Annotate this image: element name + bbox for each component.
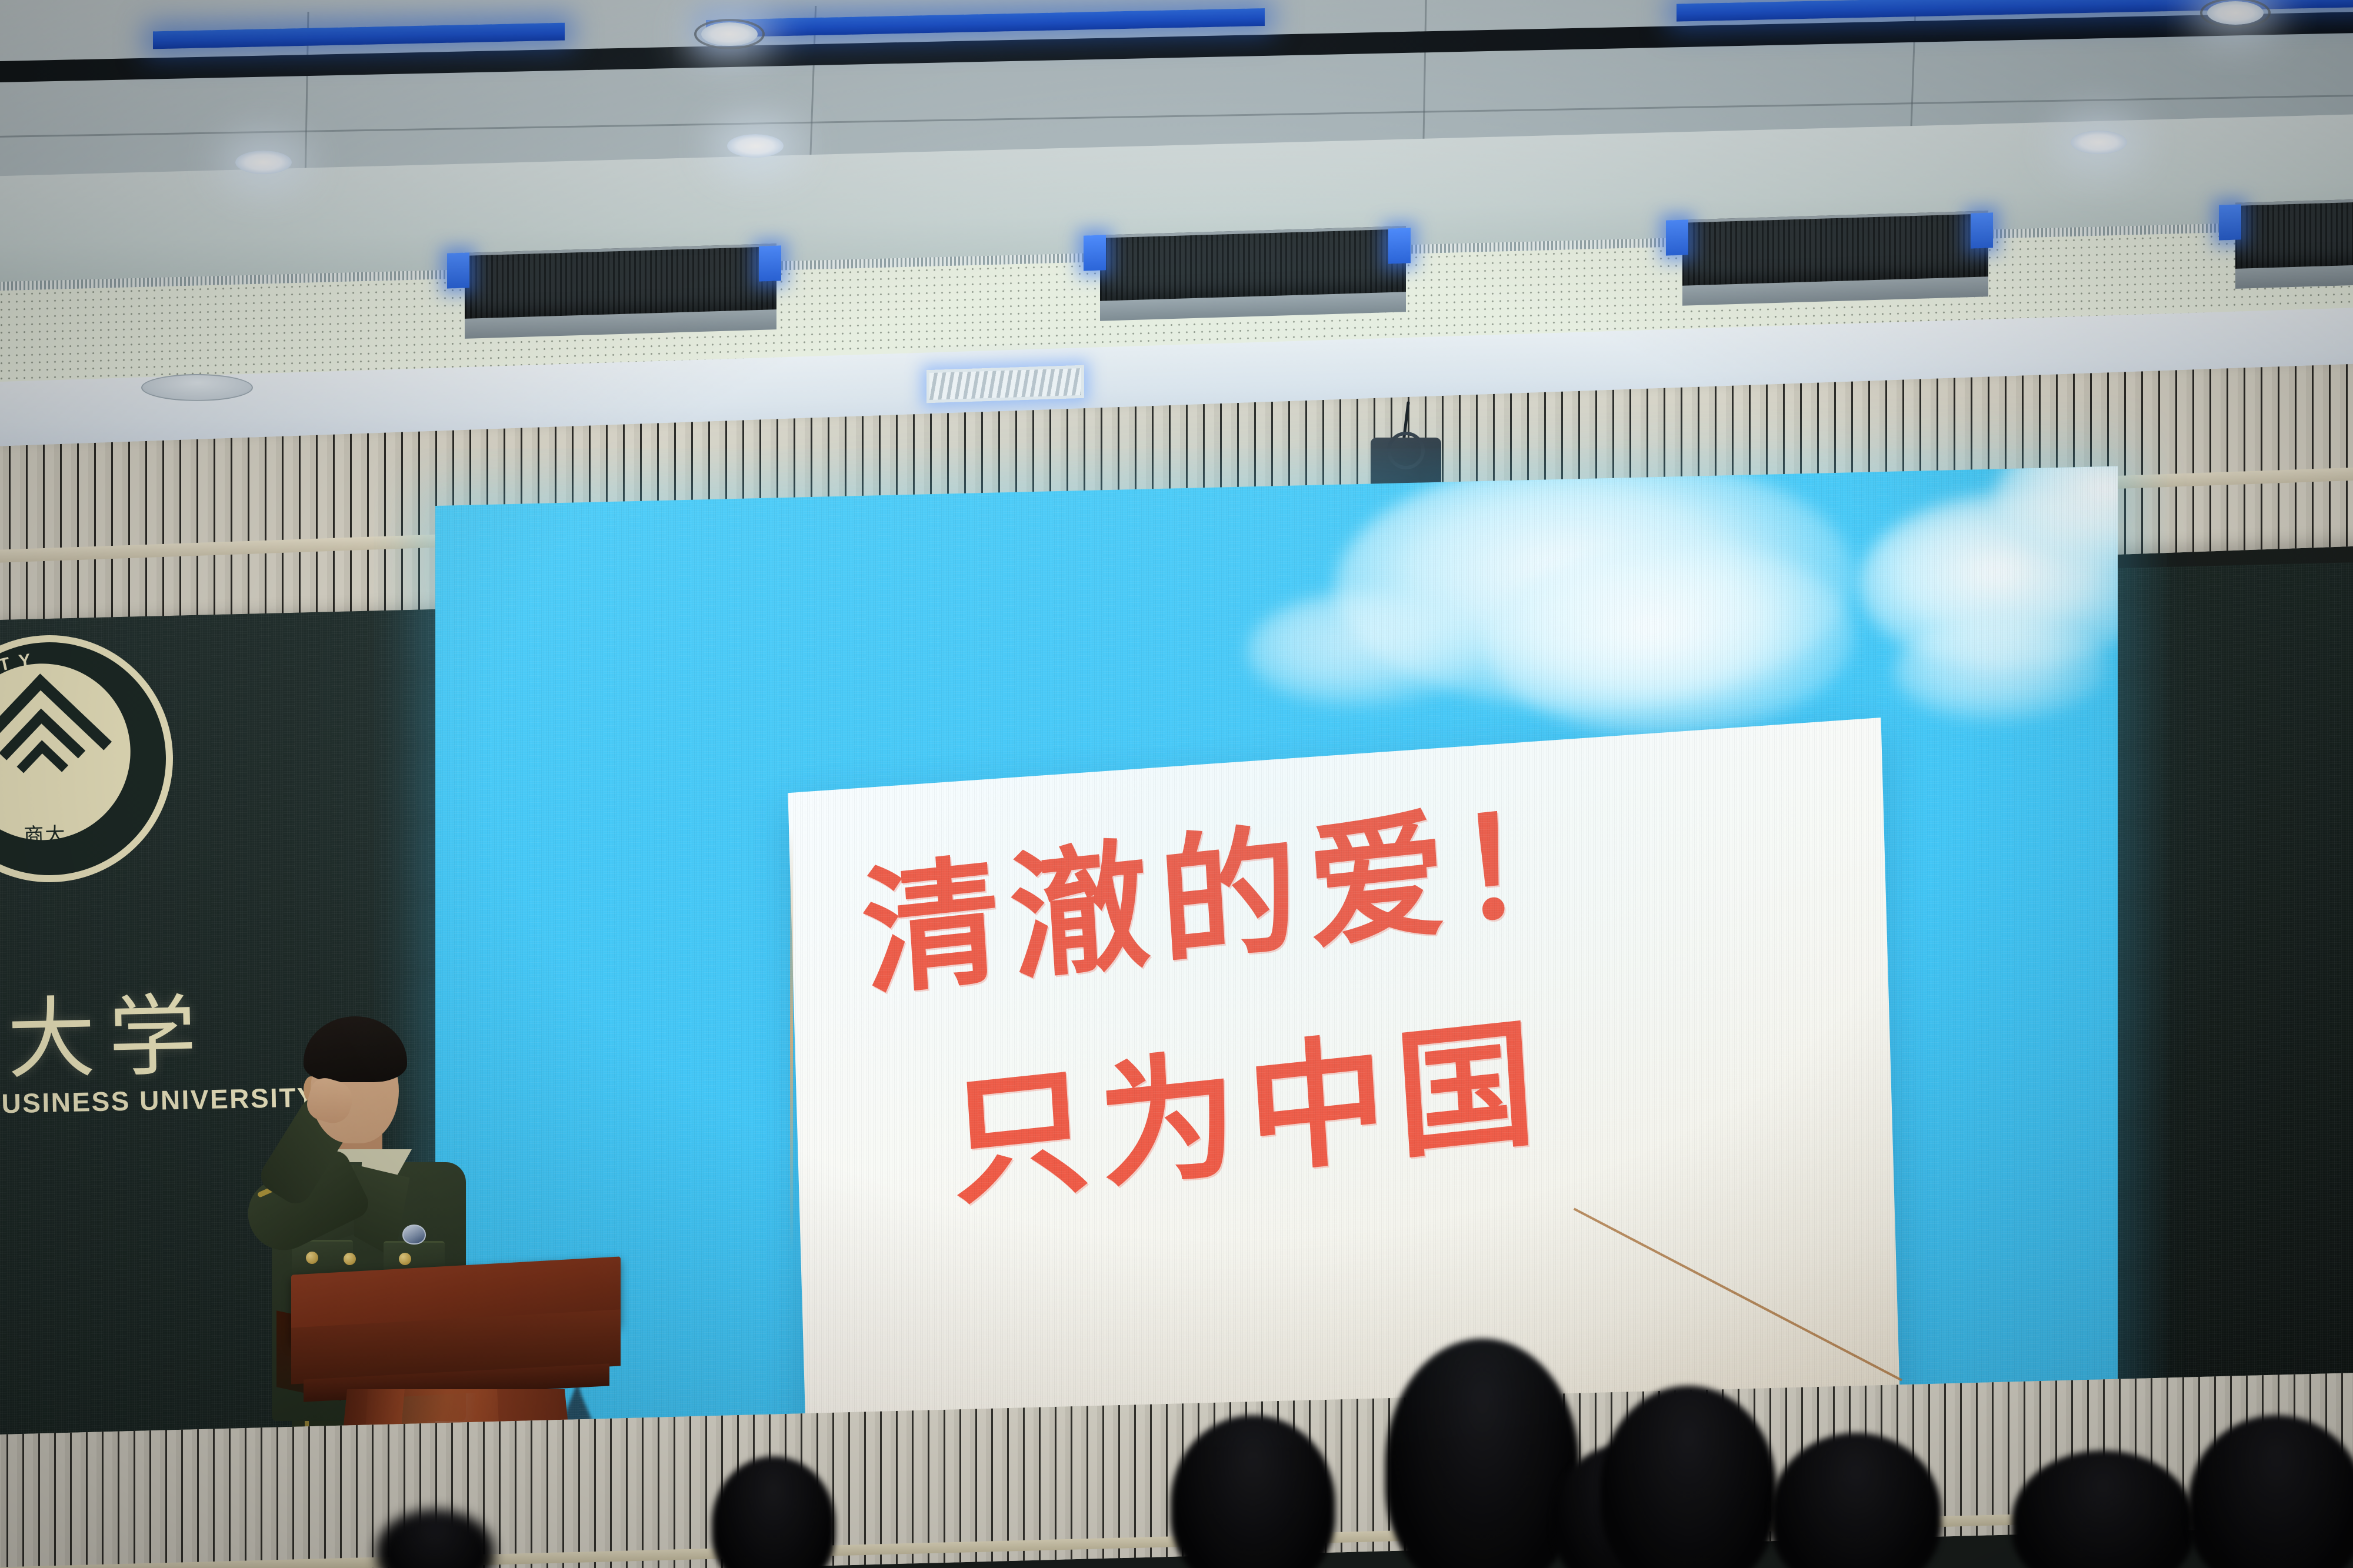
recessed-downlight (235, 151, 292, 174)
university-name-cn: 商大学 (0, 965, 211, 1099)
paper-edge-left (790, 828, 793, 1252)
paper-fold-line (1574, 1207, 1902, 1381)
ac-supply-vent (926, 365, 1084, 403)
seal-ring-text: D BUSINESS UNIVERSITY (0, 639, 169, 878)
calligraphy-line-1: 清澈的爱！ (858, 789, 1609, 1003)
perforated-speaker-grille (2235, 197, 2353, 272)
blue-led-accent (2219, 204, 2241, 240)
blue-led-accent (759, 245, 781, 281)
recessed-downlight (727, 134, 784, 158)
cloud-shape (1247, 587, 1482, 710)
seal-ring-char: Y (18, 650, 32, 672)
blue-led-accent (1971, 212, 1993, 248)
recessed-downlight (701, 22, 758, 46)
blue-led-accent (447, 252, 469, 288)
auditorium-photo: 50 商大 D BUSINESS UNIVERSITY 商大学 ND BUSIN… (0, 0, 2353, 1568)
ceiling-speaker (141, 374, 253, 401)
recessed-downlight (2207, 1, 2264, 25)
uniform-button (344, 1253, 356, 1265)
officer-hair (304, 1016, 407, 1082)
uniform-button (306, 1252, 318, 1264)
seal-ring-char: T (0, 653, 13, 675)
blue-led-accent (1084, 235, 1106, 271)
camera-lens-icon (1387, 432, 1425, 469)
calligraphy-paper: 清澈的爱！ 只为中国 (788, 718, 1900, 1473)
presentation-slide: 清澈的爱！ 只为中国 (435, 466, 2118, 1473)
university-seal: 50 商大 D BUSINESS UNIVERSITY (0, 632, 176, 886)
uniform-button (399, 1253, 411, 1265)
uniform-badge (402, 1225, 426, 1245)
blue-led-accent (1666, 219, 1688, 255)
recessed-downlight (2071, 131, 2127, 154)
blue-led-accent (1388, 228, 1411, 263)
calligraphy-line-2: 只为中国 (946, 1013, 1549, 1213)
